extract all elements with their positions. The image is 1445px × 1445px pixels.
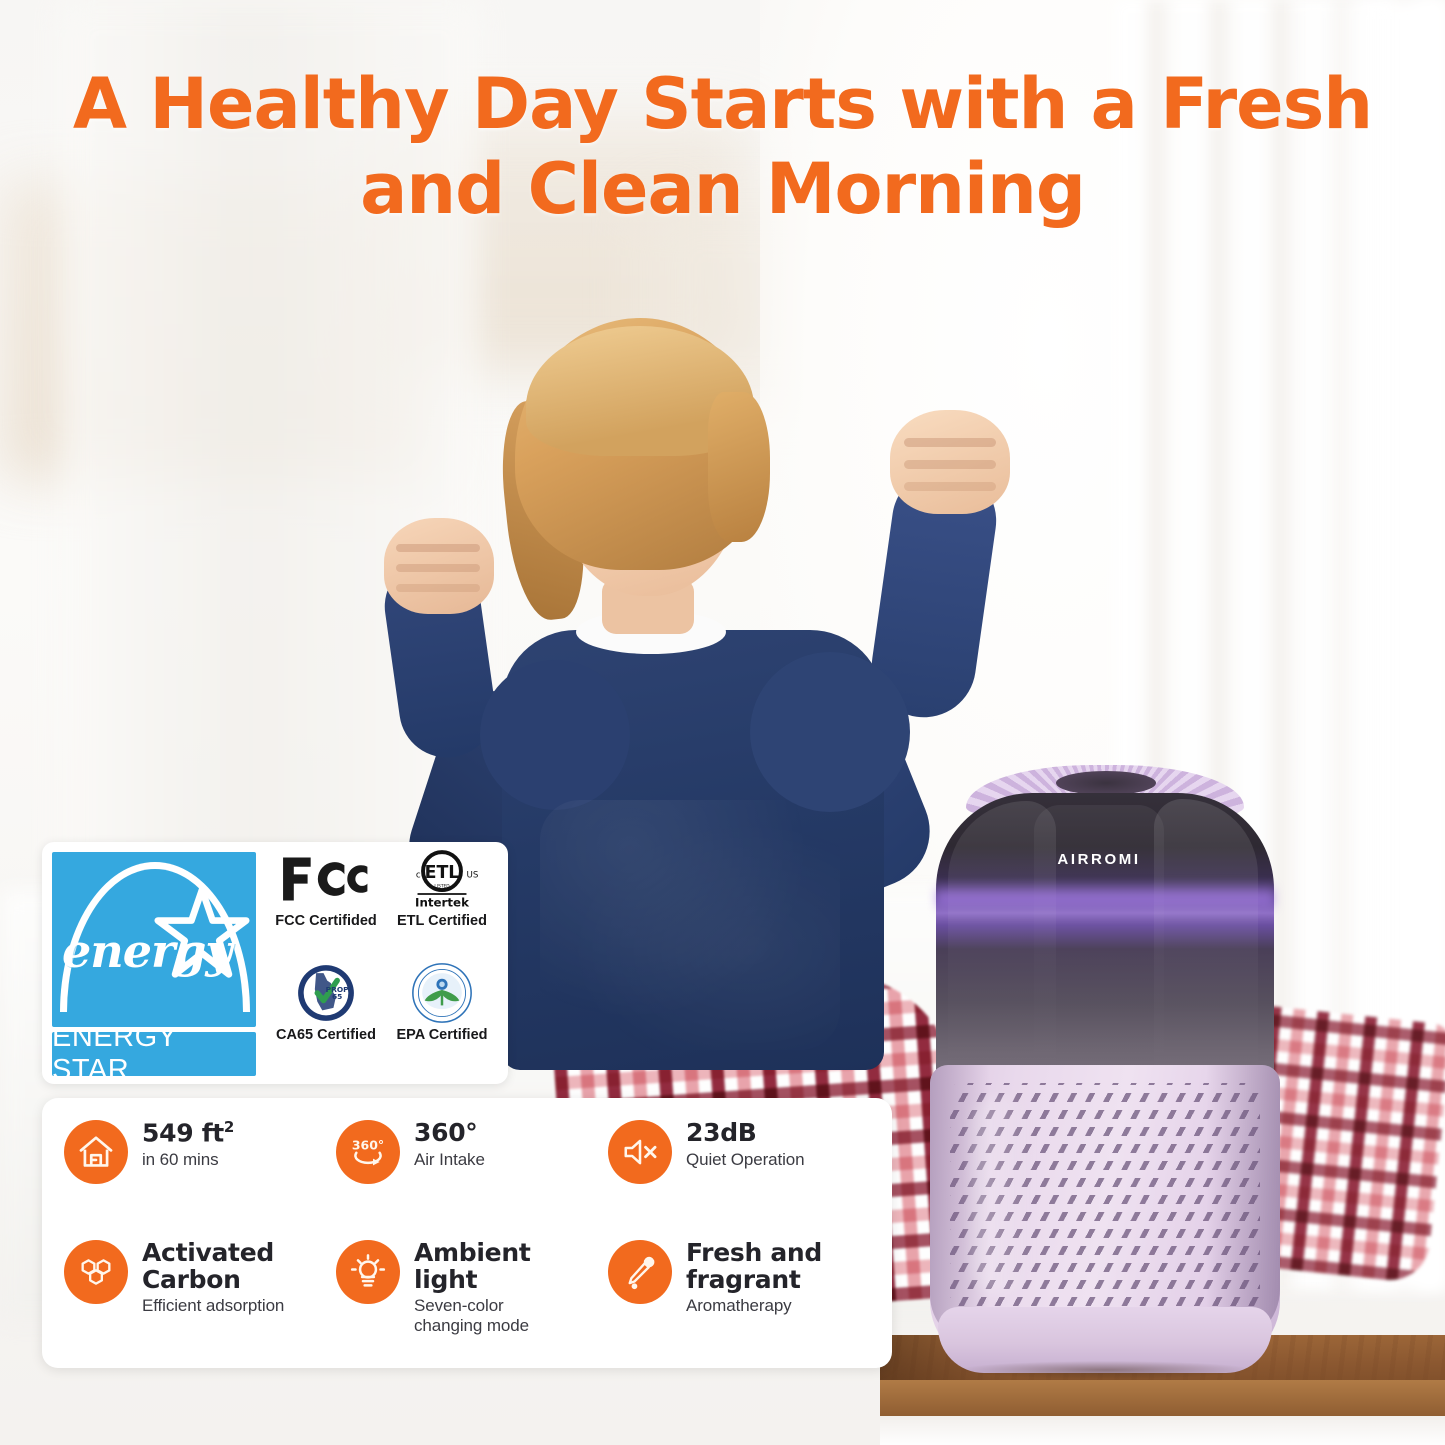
feature-air-intake-title: 360°: [414, 1120, 485, 1147]
feature-ambient-text: Ambient light Seven-color changing mode: [414, 1238, 530, 1335]
headline-line-2: and Clean Morning: [70, 147, 1375, 232]
svg-text:ETL: ETL: [425, 863, 460, 883]
cert-badge-ca65: PROP 65 CA65 Certified: [268, 962, 384, 1076]
fcc-icon: [280, 848, 372, 910]
feature-coverage-value: 549 ft: [142, 1118, 224, 1147]
cert-caption-epa: EPA Certified: [396, 1027, 487, 1043]
lightbulb-icon: [336, 1240, 400, 1304]
child-left-fist: [384, 518, 494, 614]
feature-aroma-text: Fresh and fragrant Aromatherapy: [686, 1238, 822, 1316]
dropper-icon: [608, 1240, 672, 1304]
epa-logo-glyph: [411, 962, 473, 1024]
air-purifier-product: AIRROMI: [930, 765, 1280, 1375]
purifier-front-panel: [1034, 805, 1164, 1081]
purifier-ambient-light-band: [936, 883, 1274, 913]
energy-star-icon: [154, 886, 250, 982]
dropper-icon-glyph: [621, 1253, 659, 1291]
svg-text:Intertek: Intertek: [415, 896, 470, 909]
purifier-brand-logo: AIRROMI: [1034, 851, 1164, 868]
etl-logo-glyph: ETL LISTED c US Intertek: [390, 849, 494, 909]
feature-air-intake-text: 360° Air Intake: [414, 1118, 485, 1169]
child-right-fist: [890, 410, 1010, 514]
mute-speaker-icon-glyph: [621, 1133, 659, 1171]
certification-badge-grid: FCC Certifided ETL LISTED c US Intertek …: [264, 842, 508, 1084]
svg-text:360°: 360°: [352, 1138, 384, 1153]
honeycomb-icon: [64, 1240, 128, 1304]
svg-text:LISTED: LISTED: [434, 884, 450, 890]
honeycomb-icon-glyph: [76, 1252, 116, 1292]
etl-intertek-icon: ETL LISTED c US Intertek: [390, 848, 494, 910]
house-icon: [64, 1120, 128, 1184]
svg-text:65: 65: [332, 992, 342, 1001]
feature-carbon-title: Activated Carbon: [142, 1240, 284, 1293]
child-left-shoulder: [480, 660, 630, 810]
feature-coverage-text: 549 ft2 in 60 mins: [142, 1118, 234, 1170]
lightbulb-icon-glyph: [348, 1252, 388, 1292]
purifier-gloss-right: [1154, 799, 1258, 1081]
purifier-fan-hub: [1056, 771, 1156, 795]
child-right-shoulder: [750, 652, 910, 812]
feature-air-intake-sub: Air Intake: [414, 1150, 485, 1170]
feature-noise-level: 23dB Quiet Operation: [608, 1118, 874, 1230]
wooden-table-edge: [880, 1380, 1445, 1418]
energy-star-label-text: ENERGY STAR: [52, 1021, 256, 1084]
energy-star-logo: energy ENERGY STAR: [42, 842, 264, 1084]
mute-speaker-icon: [608, 1120, 672, 1184]
cert-badge-etl: ETL LISTED c US Intertek ETL Certified: [384, 848, 500, 962]
cert-caption-etl: ETL Certified: [397, 913, 487, 929]
svg-text:US: US: [466, 870, 478, 880]
360-rotation-icon: 360°: [336, 1120, 400, 1184]
feature-aroma-title: Fresh and fragrant: [686, 1240, 822, 1293]
feature-noise-title: 23dB: [686, 1120, 805, 1147]
feature-coverage-sub: in 60 mins: [142, 1150, 234, 1170]
purifier-contact-shadow: [960, 1361, 1252, 1379]
feature-aromatherapy: Fresh and fragrant Aromatherapy: [608, 1238, 874, 1350]
feature-activated-carbon: Activated Carbon Efficient adsorption: [64, 1238, 330, 1350]
feature-ambient-sub: Seven-color changing mode: [414, 1296, 530, 1335]
360-rotation-icon-glyph: 360°: [348, 1132, 388, 1172]
page-headline: A Healthy Day Starts with a Fresh and Cl…: [0, 62, 1445, 233]
feature-ambient-light: Ambient light Seven-color changing mode: [336, 1238, 602, 1350]
svg-text:c: c: [416, 870, 421, 880]
cert-caption-fcc: FCC Certifided: [275, 913, 377, 929]
feature-ambient-title: Ambient light: [414, 1240, 530, 1293]
cert-badge-fcc: FCC Certifided: [268, 848, 384, 962]
fcc-logo-glyph: [280, 853, 372, 905]
feature-noise-sub: Quiet Operation: [686, 1150, 805, 1170]
energy-star-wordmark: ENERGY STAR: [52, 1032, 256, 1076]
epa-seal-icon: [411, 962, 473, 1024]
headline-line-1: A Healthy Day Starts with a Fresh: [73, 63, 1372, 145]
certification-panel: energy ENERGY STAR FCC Certifided: [42, 842, 508, 1084]
feature-coverage-area: 549 ft2 in 60 mins: [64, 1118, 330, 1230]
feature-aroma-sub: Aromatherapy: [686, 1296, 822, 1316]
feature-coverage-superscript: 2: [224, 1118, 234, 1136]
feature-coverage-title: 549 ft2: [142, 1120, 234, 1147]
feature-noise-text: 23dB Quiet Operation: [686, 1118, 805, 1169]
cert-badge-epa: EPA Certified: [384, 962, 500, 1076]
energy-star-mark-box: energy: [52, 852, 256, 1027]
feature-carbon-sub: Efficient adsorption: [142, 1296, 284, 1316]
feature-highlights-panel: 549 ft2 in 60 mins 360° 360° Air Intake …: [42, 1098, 892, 1368]
purifier-body-shade-right: [1206, 1065, 1280, 1345]
feature-air-intake: 360° 360° Air Intake: [336, 1118, 602, 1230]
prop65-logo-glyph: PROP 65: [295, 962, 357, 1024]
child-hair-right: [708, 392, 770, 542]
house-icon-glyph: [77, 1133, 115, 1171]
cert-caption-ca65: CA65 Certified: [276, 1027, 376, 1043]
shirt-folds: [540, 800, 840, 1050]
table-under-shadow: [880, 1416, 1445, 1445]
purifier-body-shade-left: [930, 1065, 990, 1345]
feature-carbon-text: Activated Carbon Efficient adsorption: [142, 1238, 284, 1316]
prop65-icon: PROP 65: [295, 962, 357, 1024]
